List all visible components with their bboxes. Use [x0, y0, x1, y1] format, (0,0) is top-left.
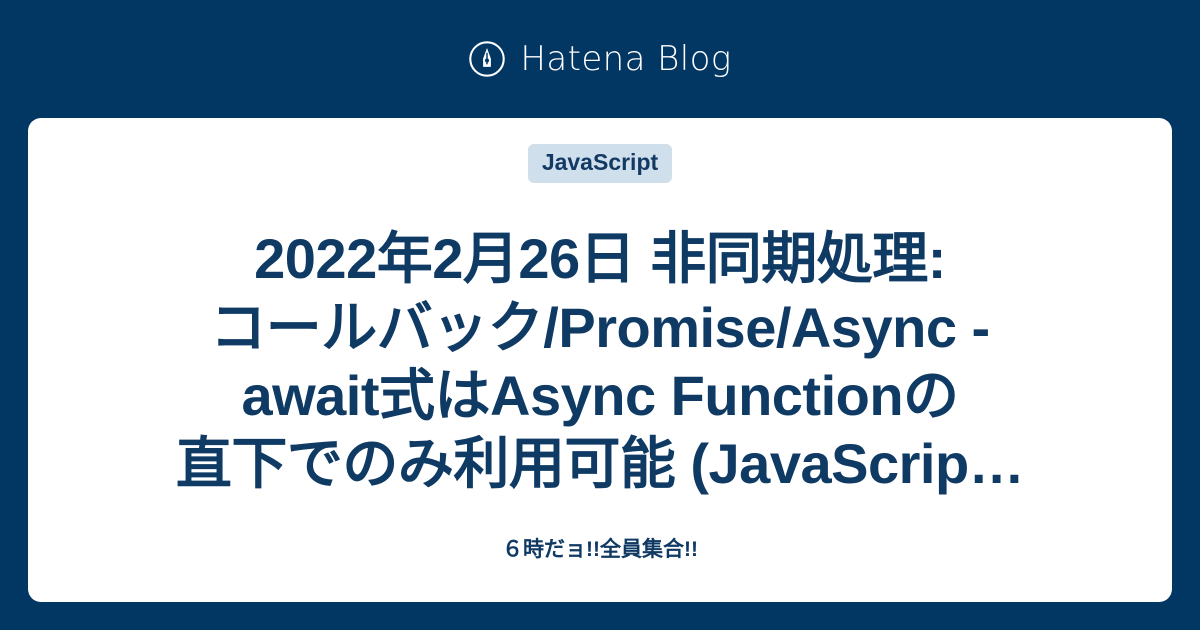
entry-card: JavaScript 2022年2月26日 非同期処理: コールバック/Prom… — [28, 118, 1172, 602]
entry-title-line: 直下でのみ利用可能 (JavaScrip… — [176, 430, 1024, 498]
entry-title-line: 2022年2月26日 非同期処理: — [176, 225, 1024, 293]
brand-header: Hatena Blog — [0, 0, 1200, 118]
category-badge[interactable]: JavaScript — [528, 144, 672, 183]
hatena-blog-og-card: Hatena Blog JavaScript 2022年2月26日 非同期処理:… — [0, 0, 1200, 630]
brand-name: Hatena Blog — [520, 42, 731, 76]
pen-nib-in-circle-icon — [468, 40, 506, 78]
blog-name[interactable]: ６時だョ!!全員集合!! — [502, 527, 698, 582]
entry-title-line: await式はAsync Functionの — [176, 362, 1024, 430]
entry-title-line: コールバック/Promise/Async - — [176, 294, 1024, 362]
entry-title[interactable]: 2022年2月26日 非同期処理: コールバック/Promise/Async -… — [176, 197, 1024, 527]
